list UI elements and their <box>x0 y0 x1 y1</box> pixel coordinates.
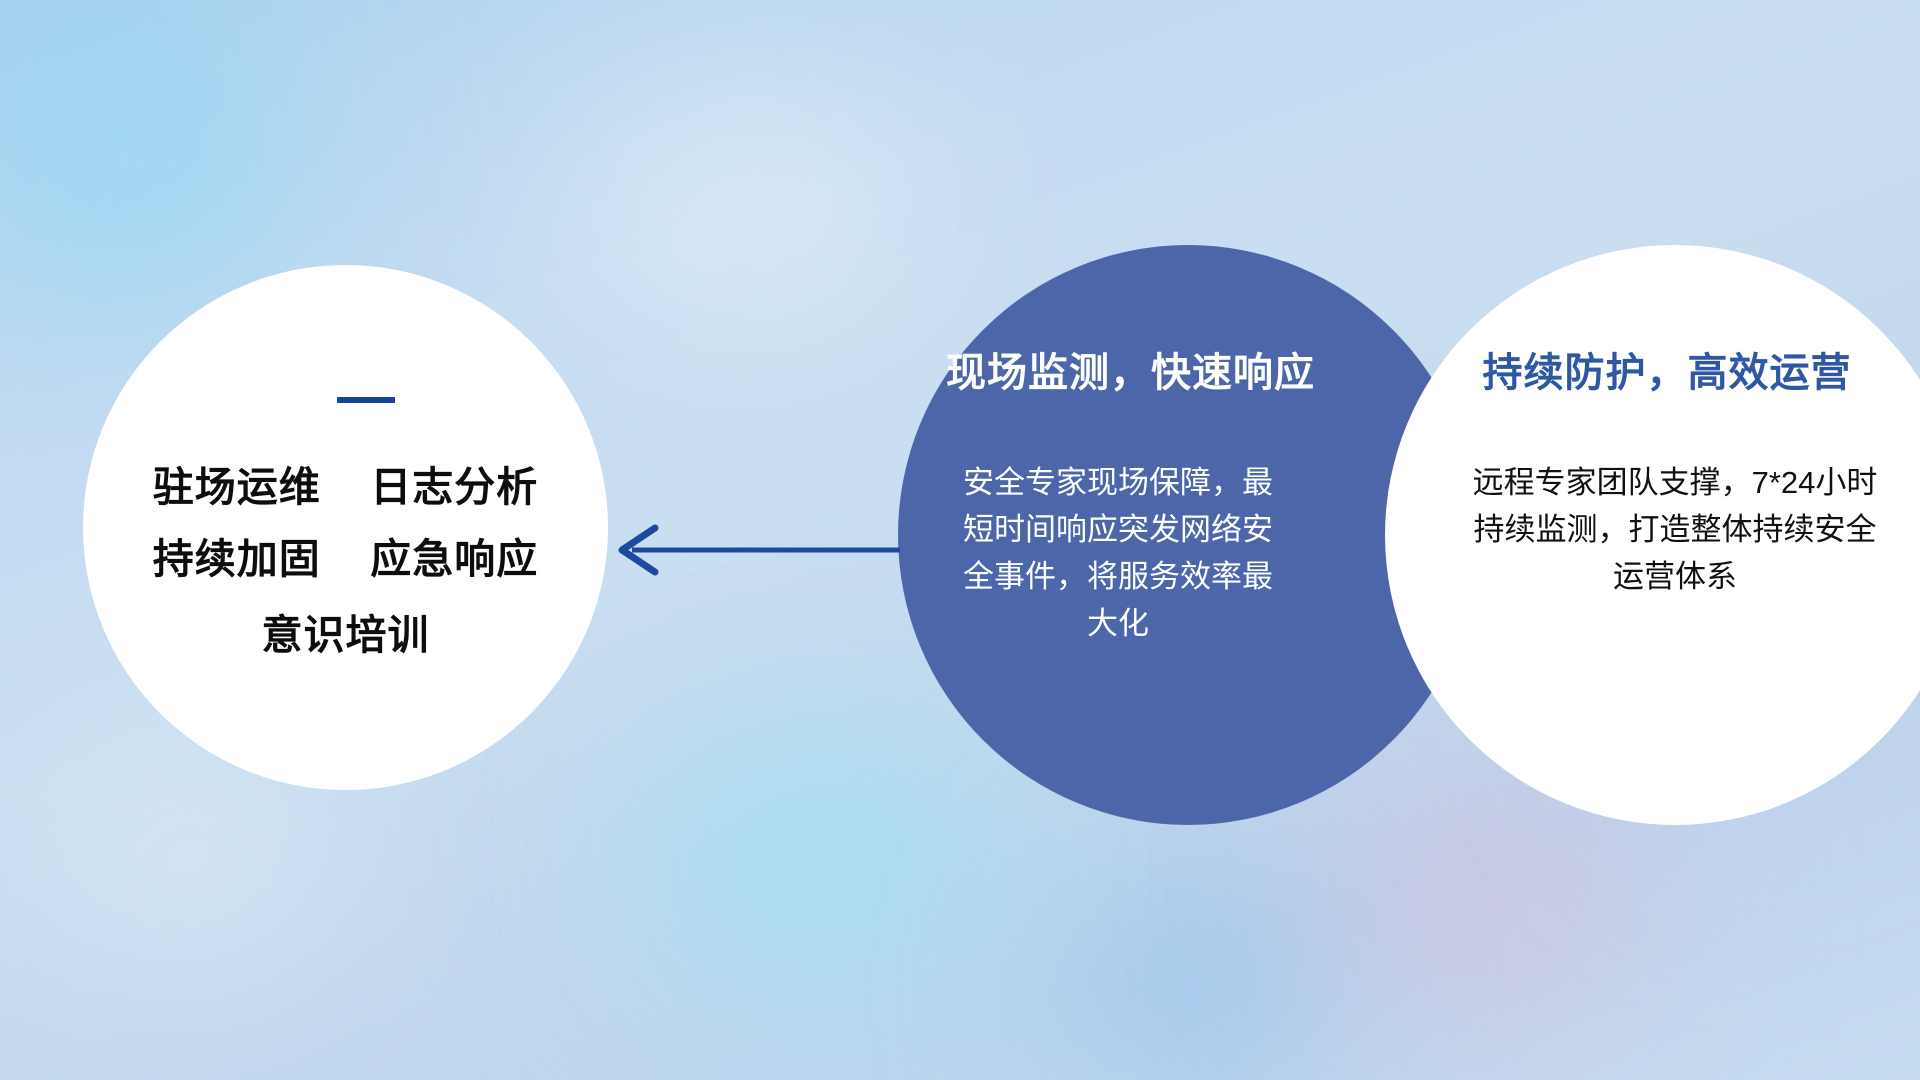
capability-line-2: 持续加固 应急响应 <box>153 537 539 582</box>
capability-line-3: 意识培训 <box>261 613 429 658</box>
capability-line-1: 驻场运维 日志分析 <box>153 465 539 510</box>
capability-tag-list: 驻场运维 日志分析 持续加固 应急响应 意识培训 <box>153 465 539 658</box>
accent-rule-icon <box>337 397 395 403</box>
left-circle-content: 驻场运维 日志分析 持续加固 应急响应 意识培训 <box>83 265 608 790</box>
slide-canvas: 驻场运维 日志分析 持续加固 应急响应 意识培训 现场监测，快速响应 安全专家现… <box>0 0 1920 1080</box>
arrow-left-icon <box>600 510 900 590</box>
flow-arrow <box>600 510 900 590</box>
